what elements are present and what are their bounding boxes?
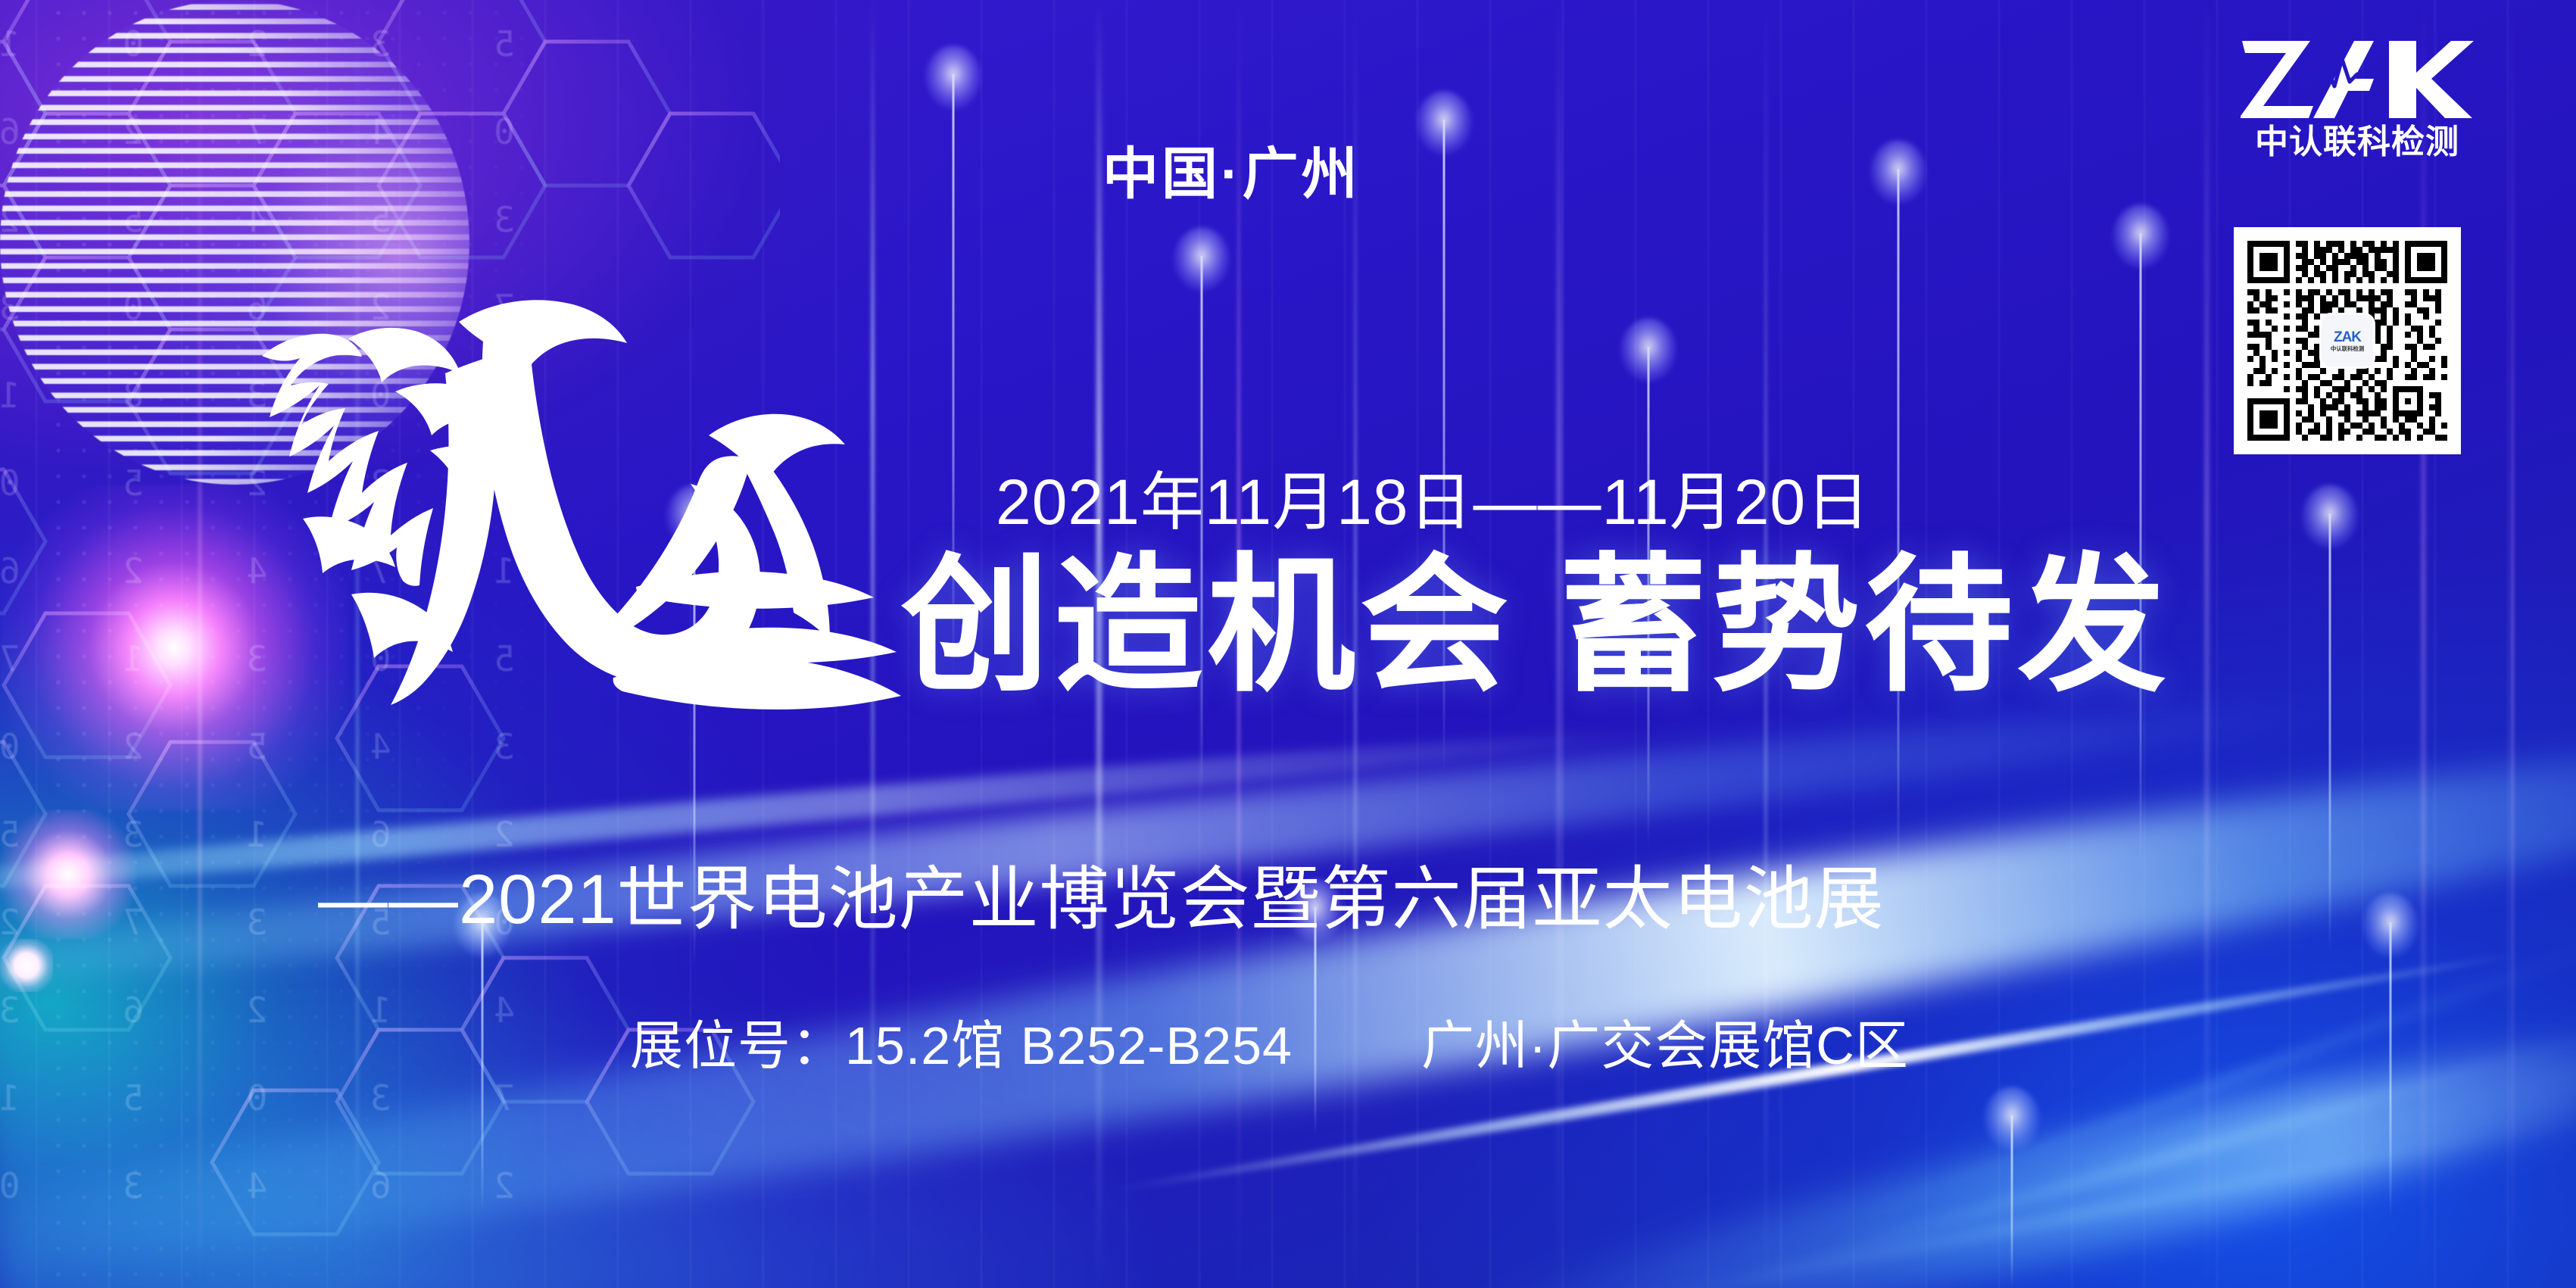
qr-embedded-logo: ZAK 中认联科检测 [2322,315,2373,366]
venue-location: 广州·广交会展馆C区 [1421,1003,1909,1080]
footer-info-row: 展位号：15.2馆 B252-B254 广州·广交会展馆C区 [630,1003,1909,1080]
exhibition-banner: 5 3 2 0 1 0 4 7 2 6 3 5 4 5 2 7 2 6 0 3 … [0,0,2576,1288]
company-name: 中认联科检测 [2232,126,2482,159]
content-layer: 中国·广州 2021年11月18日——11月20日 创造机会 蓄势待发 ——20… [0,0,2576,1288]
booth-number: 展位号：15.2馆 B252-B254 [630,1003,1293,1080]
qr-logo-name: 中认联科检测 [2331,346,2364,351]
zak-wordmark-icon [2241,36,2474,121]
date-line: 2021年11月18日——11月20日 [996,451,1870,543]
company-logo: 中认联科检测 [2232,36,2482,159]
city-line: 中国·广州 [1102,129,1361,210]
qr-logo-wordmark: ZAK [2334,330,2361,345]
qr-code[interactable]: ZAK 中认联科检测 [2234,227,2461,454]
headline-slogan: 创造机会 蓄势待发 [901,548,2170,704]
calligraphy-jihui [189,193,871,723]
event-subtitle: ——2021世界电池产业博览会暨第六届亚太电池展 [318,843,1885,943]
